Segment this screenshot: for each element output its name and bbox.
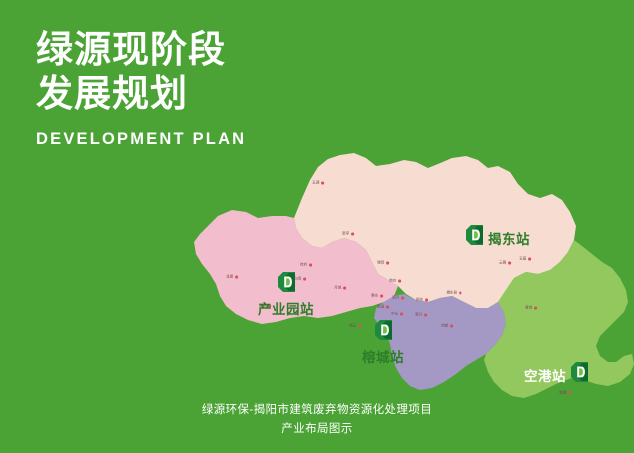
town-marker: 玉窖 <box>519 257 531 262</box>
town-marker: 曲溪 <box>377 305 389 310</box>
town-label: 梅云 <box>349 324 356 329</box>
town-dot-icon <box>528 258 531 261</box>
town-label: 玉湖 <box>312 181 319 186</box>
station-marker-chanyeyuan[interactable]: 产业园站 <box>258 272 314 318</box>
town-label: 磐东 <box>371 294 378 299</box>
town-marker: 新亨 <box>342 232 354 237</box>
town-marker: 新兴 <box>392 296 404 301</box>
town-dot-icon <box>534 307 537 310</box>
town-label: 月城 <box>334 286 341 291</box>
town-dot-icon <box>459 292 462 295</box>
town-label: 地都 <box>441 324 448 329</box>
town-label: 新兴 <box>415 313 422 318</box>
town-marker: 梅云 <box>349 324 361 329</box>
station-label-chanyeyuan: 产业园站 <box>258 298 314 318</box>
town-label: 揭东县 <box>446 291 457 296</box>
town-marker: 月城 <box>334 286 346 291</box>
town-label: 新兴 <box>392 296 399 301</box>
station-marker-konggang[interactable]: 空港站 <box>524 362 588 387</box>
town-marker: 桂岭 <box>300 263 312 268</box>
caption-line-1: 绿源环保-揭阳市建筑废弃物资源化处理项目 <box>0 401 634 420</box>
town-dot-icon <box>309 264 312 267</box>
town-dot-icon <box>343 287 346 290</box>
caption-block: 绿源环保-揭阳市建筑废弃物资源化处理项目 产业布局图示 <box>0 401 634 439</box>
page-title-line-1: 绿源现阶段 <box>36 28 376 72</box>
town-label: 渔湖 <box>559 391 566 396</box>
town-marker: 揭东县 <box>446 291 461 296</box>
town-marker: 中山 <box>391 312 403 317</box>
town-dot-icon <box>400 313 403 316</box>
town-marker: 玉湖 <box>312 181 324 186</box>
lvyuan-logo-icon <box>375 320 392 345</box>
town-marker: 地都 <box>441 324 453 329</box>
lvyuan-logo-icon <box>466 225 483 250</box>
town-label: 曲溪 <box>377 305 384 310</box>
town-label: 炮台 <box>389 279 396 284</box>
town-marker: 磐东 <box>371 294 383 299</box>
town-marker: 登岗 <box>525 306 537 311</box>
town-marker: 云路 <box>499 261 511 266</box>
town-dot-icon <box>235 276 238 279</box>
town-dot-icon <box>450 325 453 328</box>
town-dot-icon <box>386 262 389 265</box>
town-dot-icon <box>401 297 404 300</box>
town-label: 中山 <box>391 312 398 317</box>
station-marker-jiedong[interactable]: 揭东站 <box>466 225 530 250</box>
town-marker: 锡场 <box>377 261 389 266</box>
town-dot-icon <box>380 295 383 298</box>
town-dot-icon <box>425 299 428 302</box>
town-marker: 龙尾 <box>226 275 238 280</box>
station-label-konggang: 空港站 <box>524 365 566 385</box>
page-title-line-2: 发展规划 <box>36 72 376 116</box>
town-dot-icon <box>568 392 571 395</box>
town-marker: 榕东 <box>416 298 428 303</box>
development-plan-poster: 绿源现阶段 发展规划 DEVELOPMENT PLAN 玉湖新亨锡场桂岭龙尾白塔… <box>0 0 634 453</box>
lvyuan-logo-icon <box>571 362 588 387</box>
town-marker: 渔湖 <box>559 391 571 396</box>
town-label: 玉窖 <box>519 257 526 262</box>
town-label: 新亨 <box>342 232 349 237</box>
town-dot-icon <box>321 182 324 185</box>
town-dot-icon <box>398 280 401 283</box>
lvyuan-logo-icon <box>278 272 295 297</box>
town-label: 登岗 <box>525 306 532 311</box>
town-marker: 炮台 <box>389 279 401 284</box>
town-label: 锡场 <box>377 261 384 266</box>
page-subtitle-english: DEVELOPMENT PLAN <box>36 130 376 149</box>
town-dot-icon <box>351 233 354 236</box>
town-label: 桂岭 <box>300 263 307 268</box>
town-dot-icon <box>424 314 427 317</box>
town-label: 榕东 <box>416 298 423 303</box>
station-marker-rongcheng[interactable]: 榕城站 <box>362 320 404 366</box>
town-label: 龙尾 <box>226 275 233 280</box>
town-dot-icon <box>358 325 361 328</box>
title-block: 绿源现阶段 发展规划 DEVELOPMENT PLAN <box>36 28 376 149</box>
town-label: 云路 <box>499 261 506 266</box>
station-label-rongcheng: 榕城站 <box>362 346 404 366</box>
town-dot-icon <box>386 306 389 309</box>
station-label-jiedong: 揭东站 <box>488 228 530 248</box>
caption-line-2: 产业布局图示 <box>0 420 634 439</box>
town-marker: 新兴 <box>415 313 427 318</box>
town-dot-icon <box>508 262 511 265</box>
